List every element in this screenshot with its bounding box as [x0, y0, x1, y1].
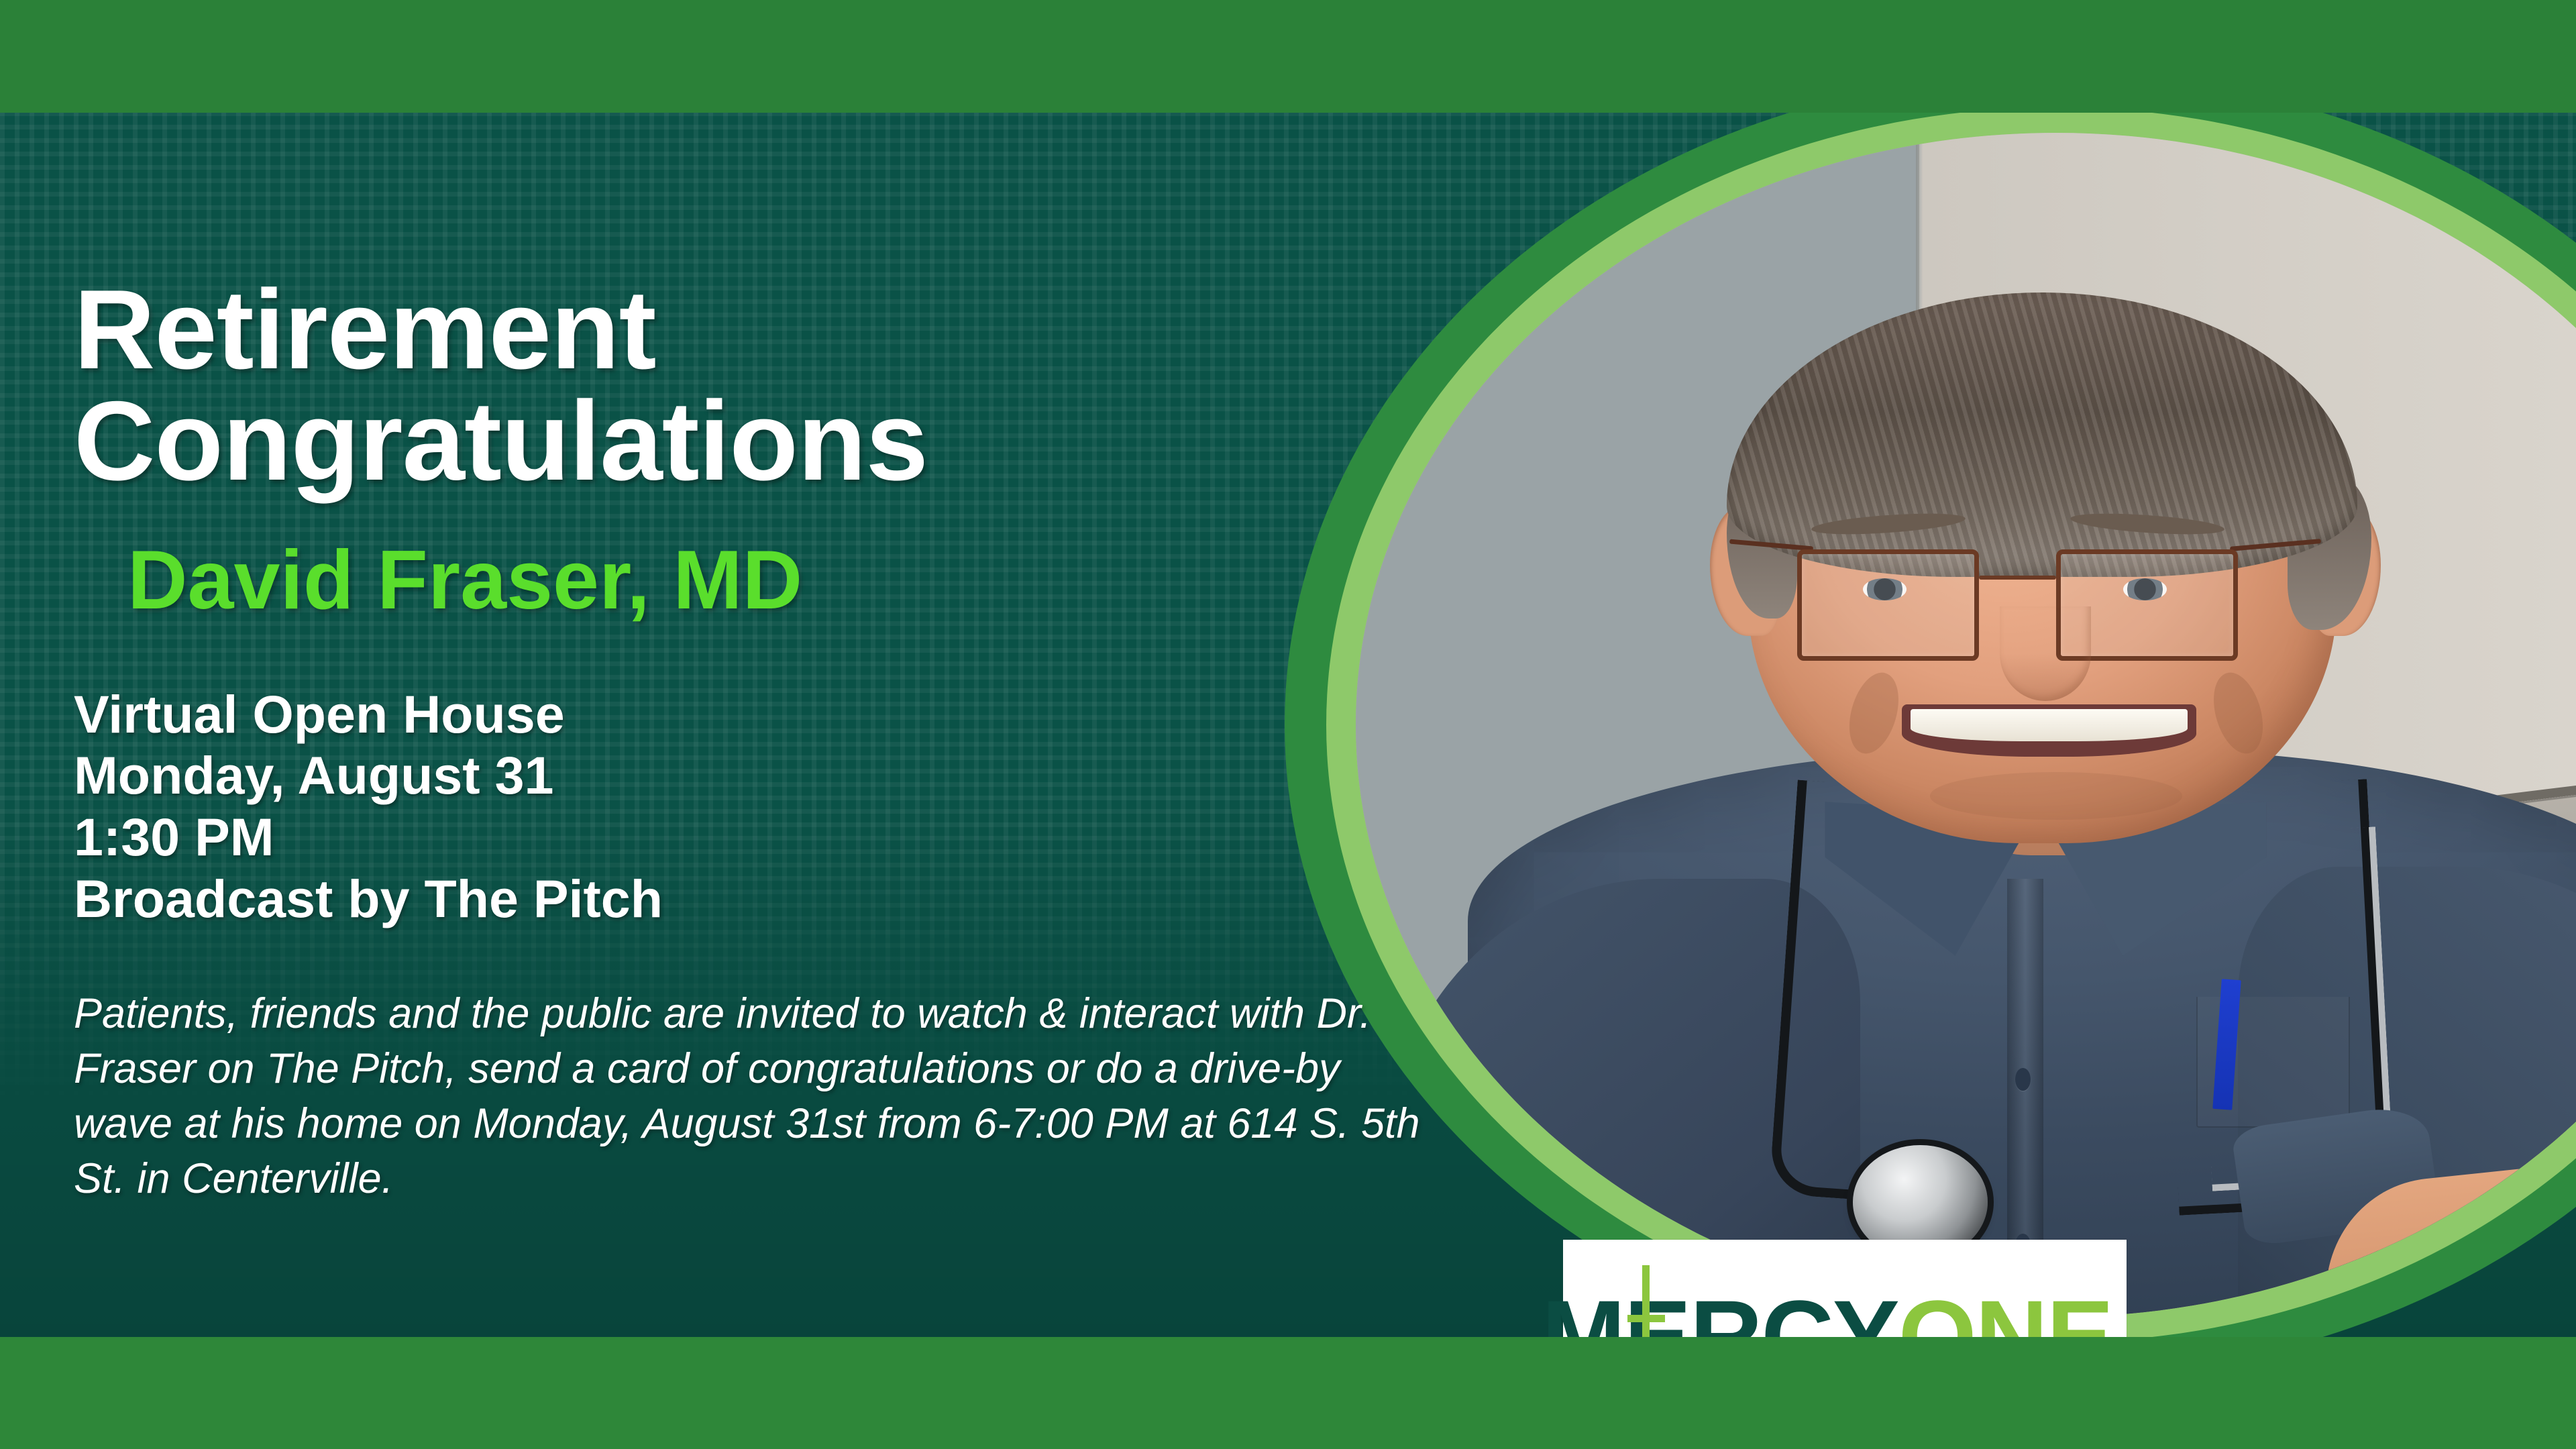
- event-detail-date: Monday, August 31: [74, 745, 1456, 806]
- teal-textured-stage: Retirement Congratulations David Fraser,…: [0, 113, 2576, 1337]
- mercyone-logo: M ERCY ONE SM: [1563, 1240, 2127, 1337]
- event-details: Virtual Open House Monday, August 31 1:3…: [74, 684, 1456, 930]
- photo-clip: [1356, 133, 2576, 1317]
- event-detail-broadcast: Broadcast by The Pitch: [74, 868, 1456, 930]
- logo-letters-ercy: ERCY: [1624, 1285, 1898, 1338]
- event-detail-type: Virtual Open House: [74, 684, 1456, 745]
- mouth: [1902, 704, 2196, 757]
- copy-block: Retirement Congratulations David Fraser,…: [74, 274, 1456, 1207]
- headline-line-2: Congratulations: [74, 385, 1456, 496]
- glasses-bridge: [1979, 576, 2056, 580]
- top-green-band: [0, 0, 2576, 113]
- hair: [1727, 292, 2357, 577]
- chin: [1930, 772, 2182, 820]
- photo-medallion-inner-ring: [1326, 113, 2576, 1337]
- teeth: [1911, 709, 2187, 741]
- bottom-green-band: [0, 1337, 2576, 1449]
- event-description: Patients, friends and the public are inv…: [74, 987, 1422, 1207]
- event-detail-time: 1:30 PM: [74, 806, 1456, 868]
- honoree-name: David Fraser, MD: [127, 539, 1456, 622]
- cross-vertical-bar: [1642, 1265, 1650, 1338]
- photo-medallion-outer-ring: [1285, 113, 2576, 1337]
- headline-line-1: Retirement: [74, 274, 1456, 385]
- logo-letters-one: ONE: [1898, 1285, 2112, 1338]
- mercyone-wordmark: M ERCY ONE SM: [1542, 1285, 2148, 1338]
- nose: [2000, 606, 2091, 701]
- page-title: Retirement Congratulations: [74, 274, 1456, 497]
- hair-texture: [1727, 292, 2357, 577]
- doctor-portrait-photo: [1356, 133, 2576, 1317]
- retirement-announcement-poster: Retirement Congratulations David Fraser,…: [0, 0, 2576, 1449]
- glasses-left-lens: [1797, 549, 1979, 661]
- logo-letter-m: M: [1542, 1285, 1624, 1338]
- cross-horizontal-bar: [1627, 1315, 1665, 1322]
